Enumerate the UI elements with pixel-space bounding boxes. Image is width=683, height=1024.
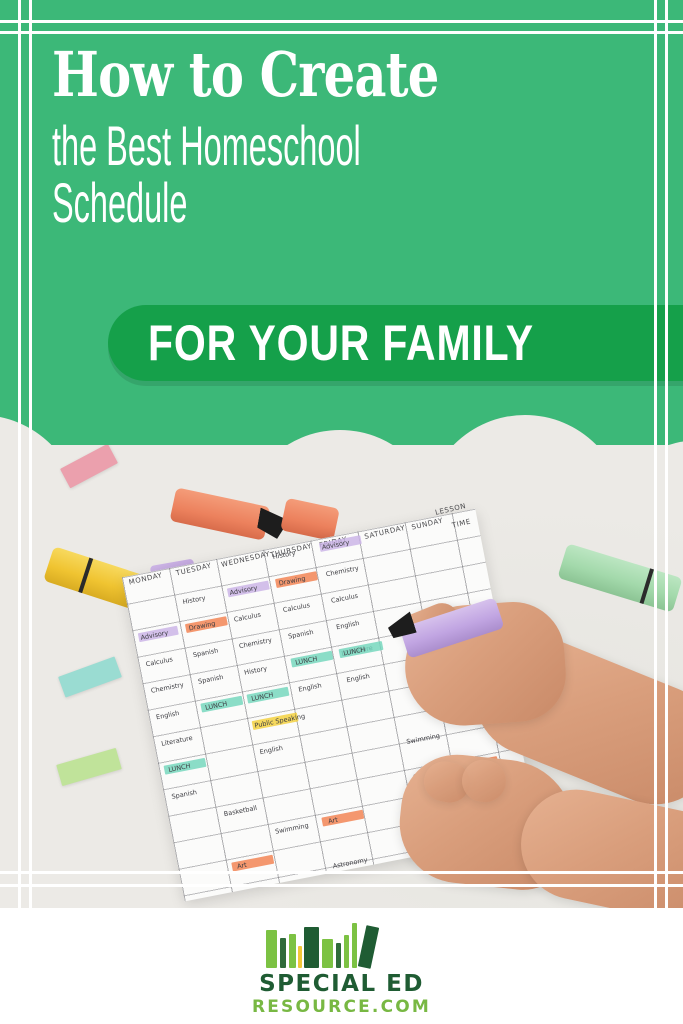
page-title-line3: Schedule	[52, 174, 400, 231]
header-banner: How to Create the Best Homeschool Schedu…	[0, 0, 683, 445]
subtitle-banner: FOR YOUR FAMILY	[108, 305, 683, 381]
pinterest-pin-graphic: MONDAY TUESDAY WEDNESDAY THURSDAY FRIDAY…	[0, 0, 683, 1024]
logo-book	[266, 930, 277, 968]
title-block: How to Create the Best Homeschool Schedu…	[52, 46, 652, 231]
logo-text-primary: SPECIAL ED	[222, 973, 462, 996]
stacked-books-icon	[266, 922, 418, 968]
logo-book	[322, 939, 333, 968]
logo-book	[336, 943, 341, 968]
logo-text-secondary: RESOURCE.COM	[222, 996, 462, 1019]
logo-book	[280, 938, 286, 968]
subtitle-banner-text: FOR YOUR FAMILY	[148, 314, 534, 372]
logo-book	[289, 934, 296, 968]
logo-book	[304, 927, 319, 968]
brand-logo[interactable]: SPECIAL ED RESOURCE.COM	[222, 922, 462, 1019]
page-title-line1: How to Create	[52, 46, 532, 103]
footer-logo-area: SPECIAL ED RESOURCE.COM	[0, 908, 683, 1024]
logo-book	[298, 946, 302, 968]
page-title-line2: the Best Homeschool	[52, 117, 400, 174]
logo-book	[352, 923, 357, 968]
logo-book	[357, 925, 378, 969]
logo-book	[344, 935, 349, 968]
